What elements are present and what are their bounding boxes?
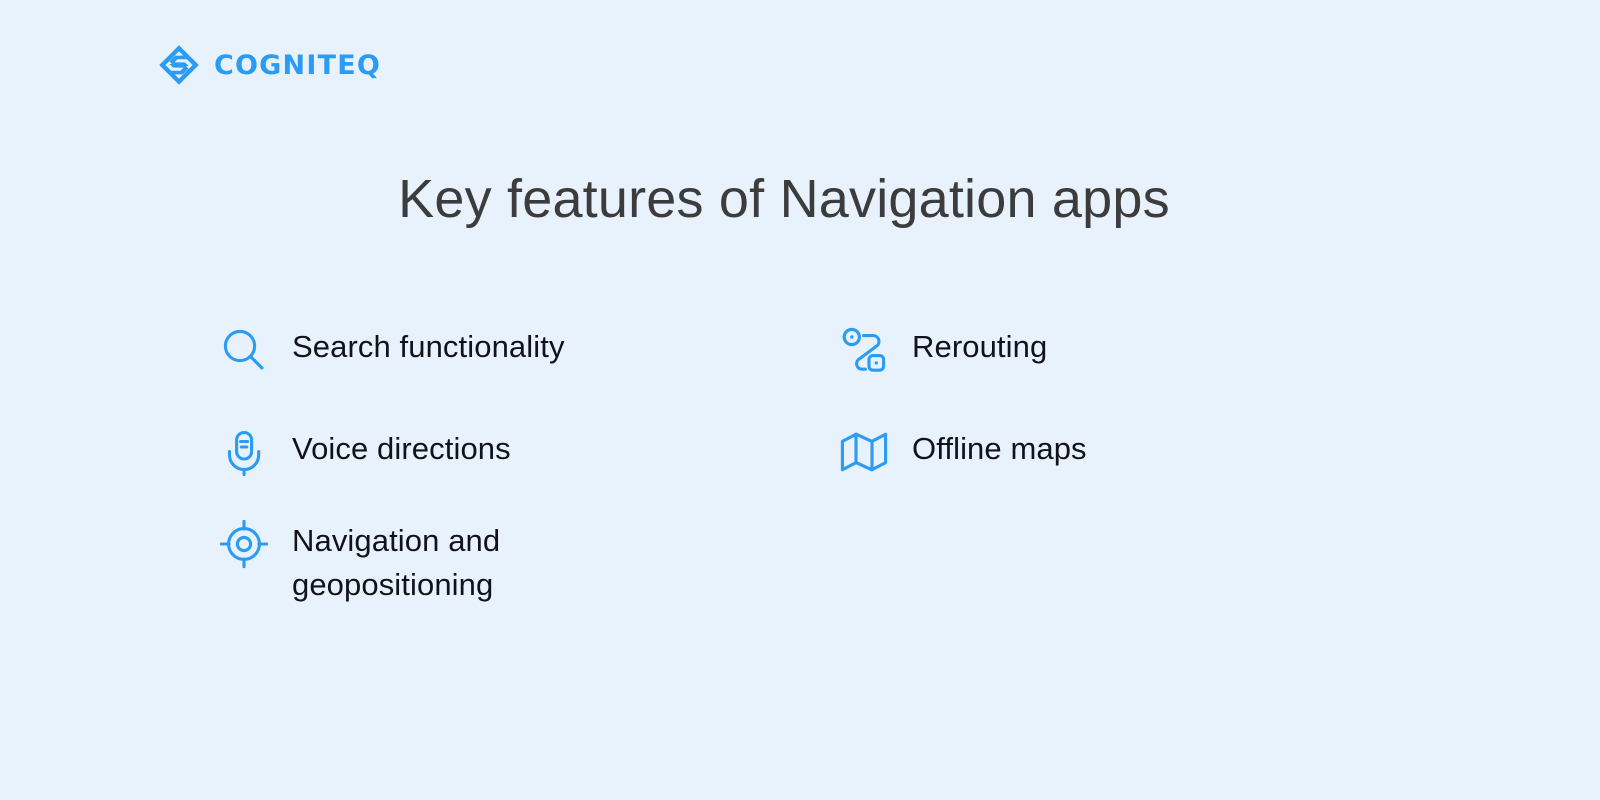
feature-label: Offline maps xyxy=(912,426,1087,471)
feature-label: Navigation and geopositioning xyxy=(292,518,500,607)
feature-label: Search functionality xyxy=(292,324,565,369)
crosshair-target-icon xyxy=(218,518,270,570)
microphone-icon xyxy=(218,426,270,478)
feature-label: Voice directions xyxy=(292,426,511,471)
feature-item-voice-directions[interactable]: Voice directions xyxy=(218,426,511,478)
cogniteq-diamond-logo-icon xyxy=(158,44,200,86)
brand-logo[interactable]: COGNITEQ xyxy=(158,44,381,86)
page-title: Key features of Navigation apps xyxy=(0,168,1568,230)
feature-item-search-functionality[interactable]: Search functionality xyxy=(218,324,565,376)
feature-label: Rerouting xyxy=(912,324,1047,369)
route-icon xyxy=(838,324,890,376)
folded-map-icon xyxy=(838,426,890,478)
feature-item-offline-maps[interactable]: Offline maps xyxy=(838,426,1087,478)
search-icon xyxy=(218,324,270,376)
feature-item-navigation-and-geopositioning[interactable]: Navigation and geopositioning xyxy=(218,518,500,607)
feature-item-rerouting[interactable]: Rerouting xyxy=(838,324,1047,376)
brand-name: COGNITEQ xyxy=(214,52,381,79)
